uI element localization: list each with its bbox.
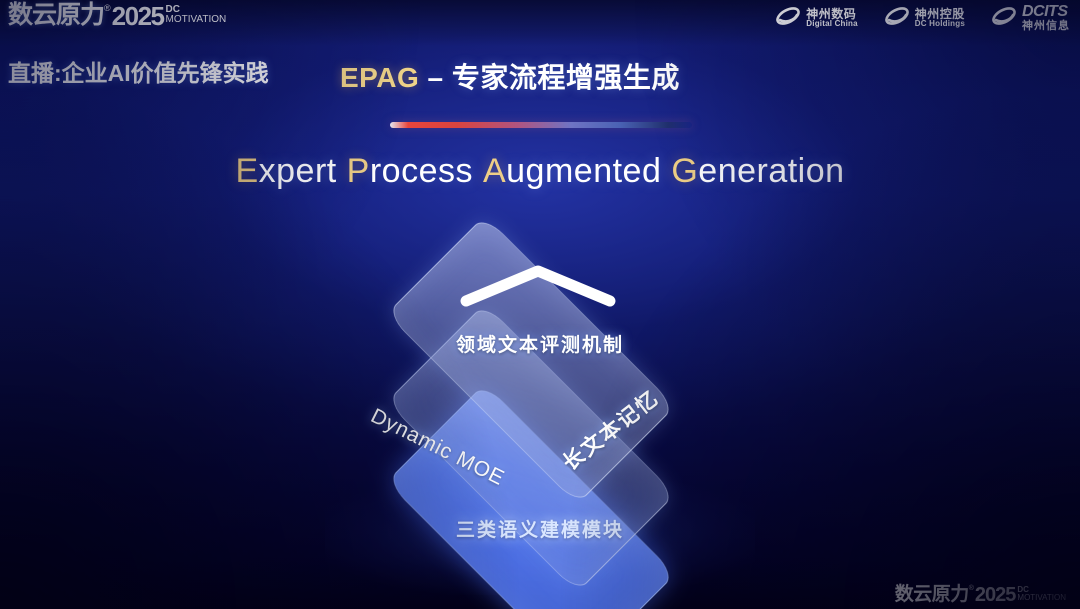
partner-logo-group: 神州数码 Digital China 神州控股 DC Holdings — [775, 4, 1070, 32]
layer-label-bottom: 三类语义建模模块 — [300, 515, 780, 542]
partner-text-digital-china: 神州数码 Digital China — [806, 8, 858, 29]
subtitle-rest-2: rocess — [370, 152, 473, 190]
partner-logo-digital-china: 神州数码 Digital China — [775, 5, 858, 32]
subtitle-cap-1: E — [235, 152, 258, 190]
partner-name-en: Digital China — [806, 20, 858, 28]
title-separator: – — [419, 62, 452, 93]
slide-canvas: 数云原力 ® 2025 DC MOTIVATION 直播:企业AI价值先锋实践 … — [0, 0, 1080, 609]
swirl-logo-icon — [884, 5, 910, 32]
layered-architecture-diagram: 领域文本评测机制 Dynamic MOE 长文本记忆 三类语义建模模块 — [300, 225, 780, 585]
partner-logo-dc-holdings: 神州控股 DC Holdings — [884, 5, 965, 32]
title-acronym: EPAG — [340, 62, 419, 93]
layer-label-top: 领域文本评测机制 — [300, 330, 780, 357]
partner-name-en: DC Holdings — [915, 20, 965, 28]
subtitle: Expert Process Augmented Generation — [0, 152, 1080, 191]
brand-motivation-block: DC MOTIVATION — [166, 5, 227, 25]
watermark-name-cn: 数云原力 — [895, 585, 969, 604]
subtitle-rest-1: xpert — [259, 152, 337, 190]
brand-year: 2025 — [112, 3, 164, 29]
watermark-registered-mark: ® — [969, 585, 974, 592]
watermark-motivation-block: DC MOTIVATION — [1017, 586, 1066, 602]
diagram-layer-top[interactable] — [300, 225, 760, 425]
subtitle-rest-3: ugmented — [506, 152, 661, 190]
subtitle-cap-4: G — [671, 152, 698, 190]
partner-name-en-main: DCITS — [1022, 4, 1070, 21]
watermark-year: 2025 — [975, 585, 1016, 605]
subtitle-cap-3: A — [483, 152, 506, 190]
title-chinese: 专家流程增强生成 — [452, 62, 680, 93]
subtitle-rest-4: eneration — [698, 152, 844, 190]
page-title: EPAG – 专家流程增强生成 — [340, 56, 680, 96]
brand-logo: 数云原力 ® 2025 DC MOTIVATION — [8, 3, 226, 29]
watermark-motivation-text: MOTIVATION — [1017, 594, 1066, 602]
partner-text-dcits: DCITS 神州信息 — [1022, 4, 1070, 32]
gradient-divider — [390, 122, 692, 128]
swirl-logo-icon — [991, 5, 1017, 32]
subtitle-cap-2: P — [347, 152, 370, 190]
swirl-logo-icon — [775, 5, 801, 32]
brand-registered-mark: ® — [104, 4, 111, 13]
brand-name-cn: 数云原力 — [8, 3, 104, 28]
footer-watermark-logo: 数云原力 ® 2025 DC MOTIVATION — [895, 585, 1066, 605]
brand-motivation-text: MOTIVATION — [166, 15, 227, 25]
partner-text-dc-holdings: 神州控股 DC Holdings — [915, 8, 965, 29]
live-session-title: 直播:企业AI价值先锋实践 — [8, 54, 269, 88]
partner-name-cn-sub: 神州信息 — [1022, 21, 1070, 33]
partner-logo-dcits: DCITS 神州信息 — [991, 4, 1070, 32]
